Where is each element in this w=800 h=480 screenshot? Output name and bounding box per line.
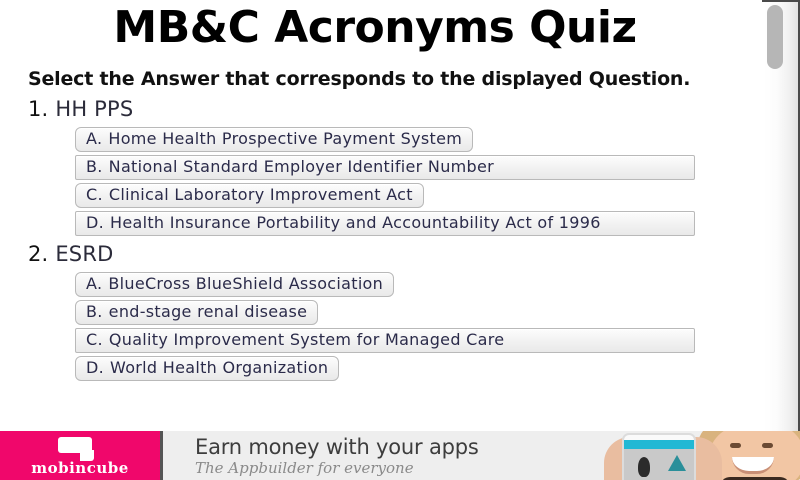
- question-block-1: 1. HH PPS A.Home Health Prospective Paym…: [28, 97, 748, 236]
- page-title: MB&C Acronyms Quiz: [28, 4, 748, 52]
- answer-option-1b[interactable]: B.National Standard Employer Identifier …: [75, 155, 695, 180]
- answer-letter-2a: A.: [86, 274, 102, 293]
- answer-option-2c[interactable]: C.Quality Improvement System for Managed…: [75, 328, 695, 353]
- answer-text-1b: National Standard Employer Identifier Nu…: [109, 157, 494, 176]
- answer-option-1c[interactable]: C.Clinical Laboratory Improvement Act: [75, 183, 424, 208]
- eye-right-shape: [762, 443, 773, 448]
- webview-top-edge: [762, 0, 800, 2]
- ad-headline: Earn money with your apps: [195, 436, 595, 459]
- answer-letter-2c: C.: [86, 330, 103, 349]
- answer-letter-2b: B.: [86, 302, 103, 321]
- answer-option-1a[interactable]: A.Home Health Prospective Payment System: [75, 127, 473, 152]
- question-block-2: 2. ESRD A.BlueCross BlueShield Associati…: [28, 242, 748, 381]
- ad-banner[interactable]: mobincube Earn money with your apps The …: [0, 431, 800, 480]
- ad-subline: The Appbuilder for everyone: [195, 460, 595, 477]
- instruction-text: Select the Answer that corresponds to th…: [28, 68, 748, 91]
- answer-text-2c: Quality Improvement System for Managed C…: [109, 330, 505, 349]
- answer-option-2b[interactable]: B.end-stage renal disease: [75, 300, 318, 325]
- answer-text-2b: end-stage renal disease: [109, 302, 308, 321]
- answer-letter-1c: C.: [86, 185, 103, 204]
- question-text-1: HH PPS: [55, 97, 133, 121]
- answer-text-1c: Clinical Laboratory Improvement Act: [109, 185, 413, 204]
- ad-brand-name: mobincube: [0, 459, 160, 477]
- phone-screen-blob: [638, 457, 650, 477]
- answer-option-1d[interactable]: D.Health Insurance Portability and Accou…: [75, 211, 695, 236]
- answer-list-2: A.BlueCross BlueShield Association B.end…: [75, 272, 695, 381]
- answer-letter-1d: D.: [86, 213, 104, 232]
- eye-left-shape: [730, 443, 741, 448]
- answer-letter-1a: A.: [86, 129, 102, 148]
- ad-brand-logo[interactable]: mobincube: [0, 431, 163, 480]
- smartphone-icon: [622, 433, 696, 480]
- answer-text-2d: World Health Organization: [110, 358, 328, 377]
- question-number-1: 1.: [28, 97, 48, 121]
- ad-artwork: [600, 431, 800, 480]
- ad-copy: Earn money with your apps The Appbuilder…: [195, 436, 595, 477]
- answer-list-1: A.Home Health Prospective Payment System…: [75, 127, 695, 236]
- question-prompt-1: 1. HH PPS: [28, 97, 748, 121]
- quiz-content: MB&C Acronyms Quiz Select the Answer tha…: [0, 4, 762, 381]
- vertical-scrollbar-thumb[interactable]: [767, 5, 783, 69]
- answer-option-2a[interactable]: A.BlueCross BlueShield Association: [75, 272, 394, 297]
- phone-header-bar: [624, 440, 694, 449]
- phone-screen: [624, 449, 694, 480]
- speech-bubble-icon: [58, 437, 92, 453]
- answer-letter-1b: B.: [86, 157, 103, 176]
- answer-text-1a: Home Health Prospective Payment System: [108, 129, 462, 148]
- device-screen: MB&C Acronyms Quiz Select the Answer tha…: [0, 0, 800, 480]
- answer-text-1d: Health Insurance Portability and Account…: [110, 213, 601, 232]
- quiz-page: MB&C Acronyms Quiz Select the Answer tha…: [0, 0, 762, 431]
- question-number-2: 2.: [28, 242, 48, 266]
- question-text-2: ESRD: [55, 242, 113, 266]
- answer-letter-2d: D.: [86, 358, 104, 377]
- answer-option-2d[interactable]: D.World Health Organization: [75, 356, 339, 381]
- tree-icon: [668, 455, 686, 471]
- question-prompt-2: 2. ESRD: [28, 242, 748, 266]
- answer-text-2a: BlueCross BlueShield Association: [108, 274, 383, 293]
